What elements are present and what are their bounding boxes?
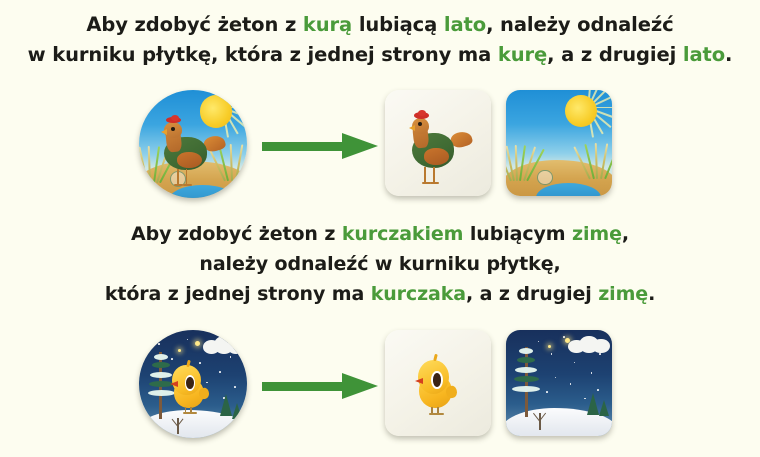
- cloud-icon: [202, 336, 245, 353]
- summer-token-circle: [139, 90, 247, 198]
- winter-scene: [506, 330, 612, 436]
- winter-instruction-line-1: Aby zdobyć żeton z kurczakiem lubiącym z…: [0, 219, 760, 249]
- arrow-right-icon: [262, 373, 378, 399]
- text-segment: ,: [622, 223, 629, 245]
- hen-comb-top: [171, 115, 179, 121]
- chick-figure: [171, 365, 210, 415]
- winter-scene: [139, 330, 247, 438]
- small-pine-tree: [232, 403, 242, 419]
- text-segment: , należy odnaleźć: [486, 13, 674, 36]
- pine-tree: [512, 347, 540, 417]
- tile-winter: [506, 330, 612, 436]
- bright-star-icon: [178, 349, 181, 352]
- arrow-head: [342, 373, 378, 399]
- text-segment: lubiącym: [463, 223, 572, 245]
- winter-instruction-line-2: należy odnaleźć w kurniku płytkę,: [0, 249, 760, 279]
- tile-hen: [385, 90, 491, 196]
- summer-example-row: [0, 85, 760, 205]
- hen-foot: [430, 182, 439, 184]
- winter-token-circle: [139, 330, 247, 438]
- text-segment: , a z drugiej: [466, 283, 598, 305]
- hen-figure: [408, 113, 469, 183]
- highlight-word-summer-2: lato: [683, 43, 725, 66]
- highlight-word-hen-acc: kurę: [498, 43, 547, 66]
- hen-leg: [424, 167, 426, 184]
- tile-chick: [385, 330, 491, 436]
- chick-foot: [435, 413, 444, 415]
- hen-leg: [186, 169, 188, 185]
- chick-foot: [188, 412, 197, 414]
- cloud-icon: [568, 336, 610, 353]
- summer-scene: [139, 90, 247, 198]
- bare-twig: [531, 410, 547, 430]
- chick-beak: [170, 381, 178, 387]
- tile-summer: [506, 90, 612, 196]
- small-pine-tree: [599, 400, 609, 416]
- bare-twig: [169, 414, 185, 434]
- hen-eye: [171, 127, 175, 131]
- highlight-word-winter-2: zimę: [598, 283, 648, 305]
- summer-scene: [506, 90, 612, 196]
- chick-figure: [417, 360, 459, 415]
- text-segment: należy odnaleźć w kurniku płytkę,: [199, 253, 560, 275]
- highlight-word-hen: kurą: [303, 13, 352, 36]
- hen-beak: [161, 129, 167, 135]
- hen-wing: [424, 148, 449, 165]
- summer-instruction-line-1: Aby zdobyć żeton z kurą lubiącą lato, na…: [0, 10, 760, 40]
- highlight-word-winter: zimę: [572, 223, 622, 245]
- text-segment: która z jednej strony ma: [105, 283, 371, 305]
- highlight-word-summer: lato: [444, 13, 486, 36]
- hen-foot: [174, 184, 183, 186]
- summer-instruction-line-2: w kurniku płytkę, która z jednej strony …: [0, 40, 760, 70]
- hen-leg: [433, 167, 435, 184]
- grass-tuft-left: [508, 145, 531, 181]
- winter-instruction-text: Aby zdobyć żeton z kurczakiem lubiącym z…: [0, 219, 760, 309]
- grass-tuft-right: [588, 143, 611, 179]
- highlight-word-chick: kurczakiem: [342, 223, 464, 245]
- text-segment: , a z drugiej: [547, 43, 683, 66]
- small-pine-tree: [220, 394, 232, 416]
- hen-leg: [177, 169, 179, 185]
- instruction-page: Aby zdobyć żeton z kurą lubiącą lato, na…: [0, 0, 760, 457]
- chick-beak: [415, 378, 423, 384]
- arrow-right-icon: [262, 133, 378, 159]
- hen-foot: [183, 184, 192, 186]
- text-segment: lubiącą: [352, 13, 444, 36]
- text-segment: w kurniku płytkę, która z jednej strony …: [28, 43, 498, 66]
- summer-instruction-text: Aby zdobyć żeton z kurą lubiącą lato, na…: [0, 10, 760, 70]
- bright-star-icon: [195, 341, 200, 346]
- text-segment: .: [648, 283, 655, 305]
- text-segment: Aby zdobyć żeton z: [86, 13, 302, 36]
- small-pine-tree: [587, 393, 599, 415]
- highlight-word-chick-acc: kurczaka: [371, 283, 466, 305]
- text-segment: .: [725, 43, 732, 66]
- arrow-head: [342, 133, 378, 159]
- arrow-shaft: [262, 382, 344, 391]
- arrow-shaft: [262, 142, 344, 151]
- brand-logo-mark: [537, 170, 553, 186]
- hen-beak: [409, 125, 415, 131]
- winter-example-row: [0, 325, 760, 445]
- winter-instruction-line-3: która z jednej strony ma kurczaka, a z d…: [0, 279, 760, 309]
- grass-tuft-right: [222, 144, 246, 181]
- hen-wing: [177, 152, 202, 168]
- hen-figure: [161, 118, 224, 185]
- bright-star-icon: [548, 345, 551, 348]
- text-segment: Aby zdobyć żeton z: [131, 223, 342, 245]
